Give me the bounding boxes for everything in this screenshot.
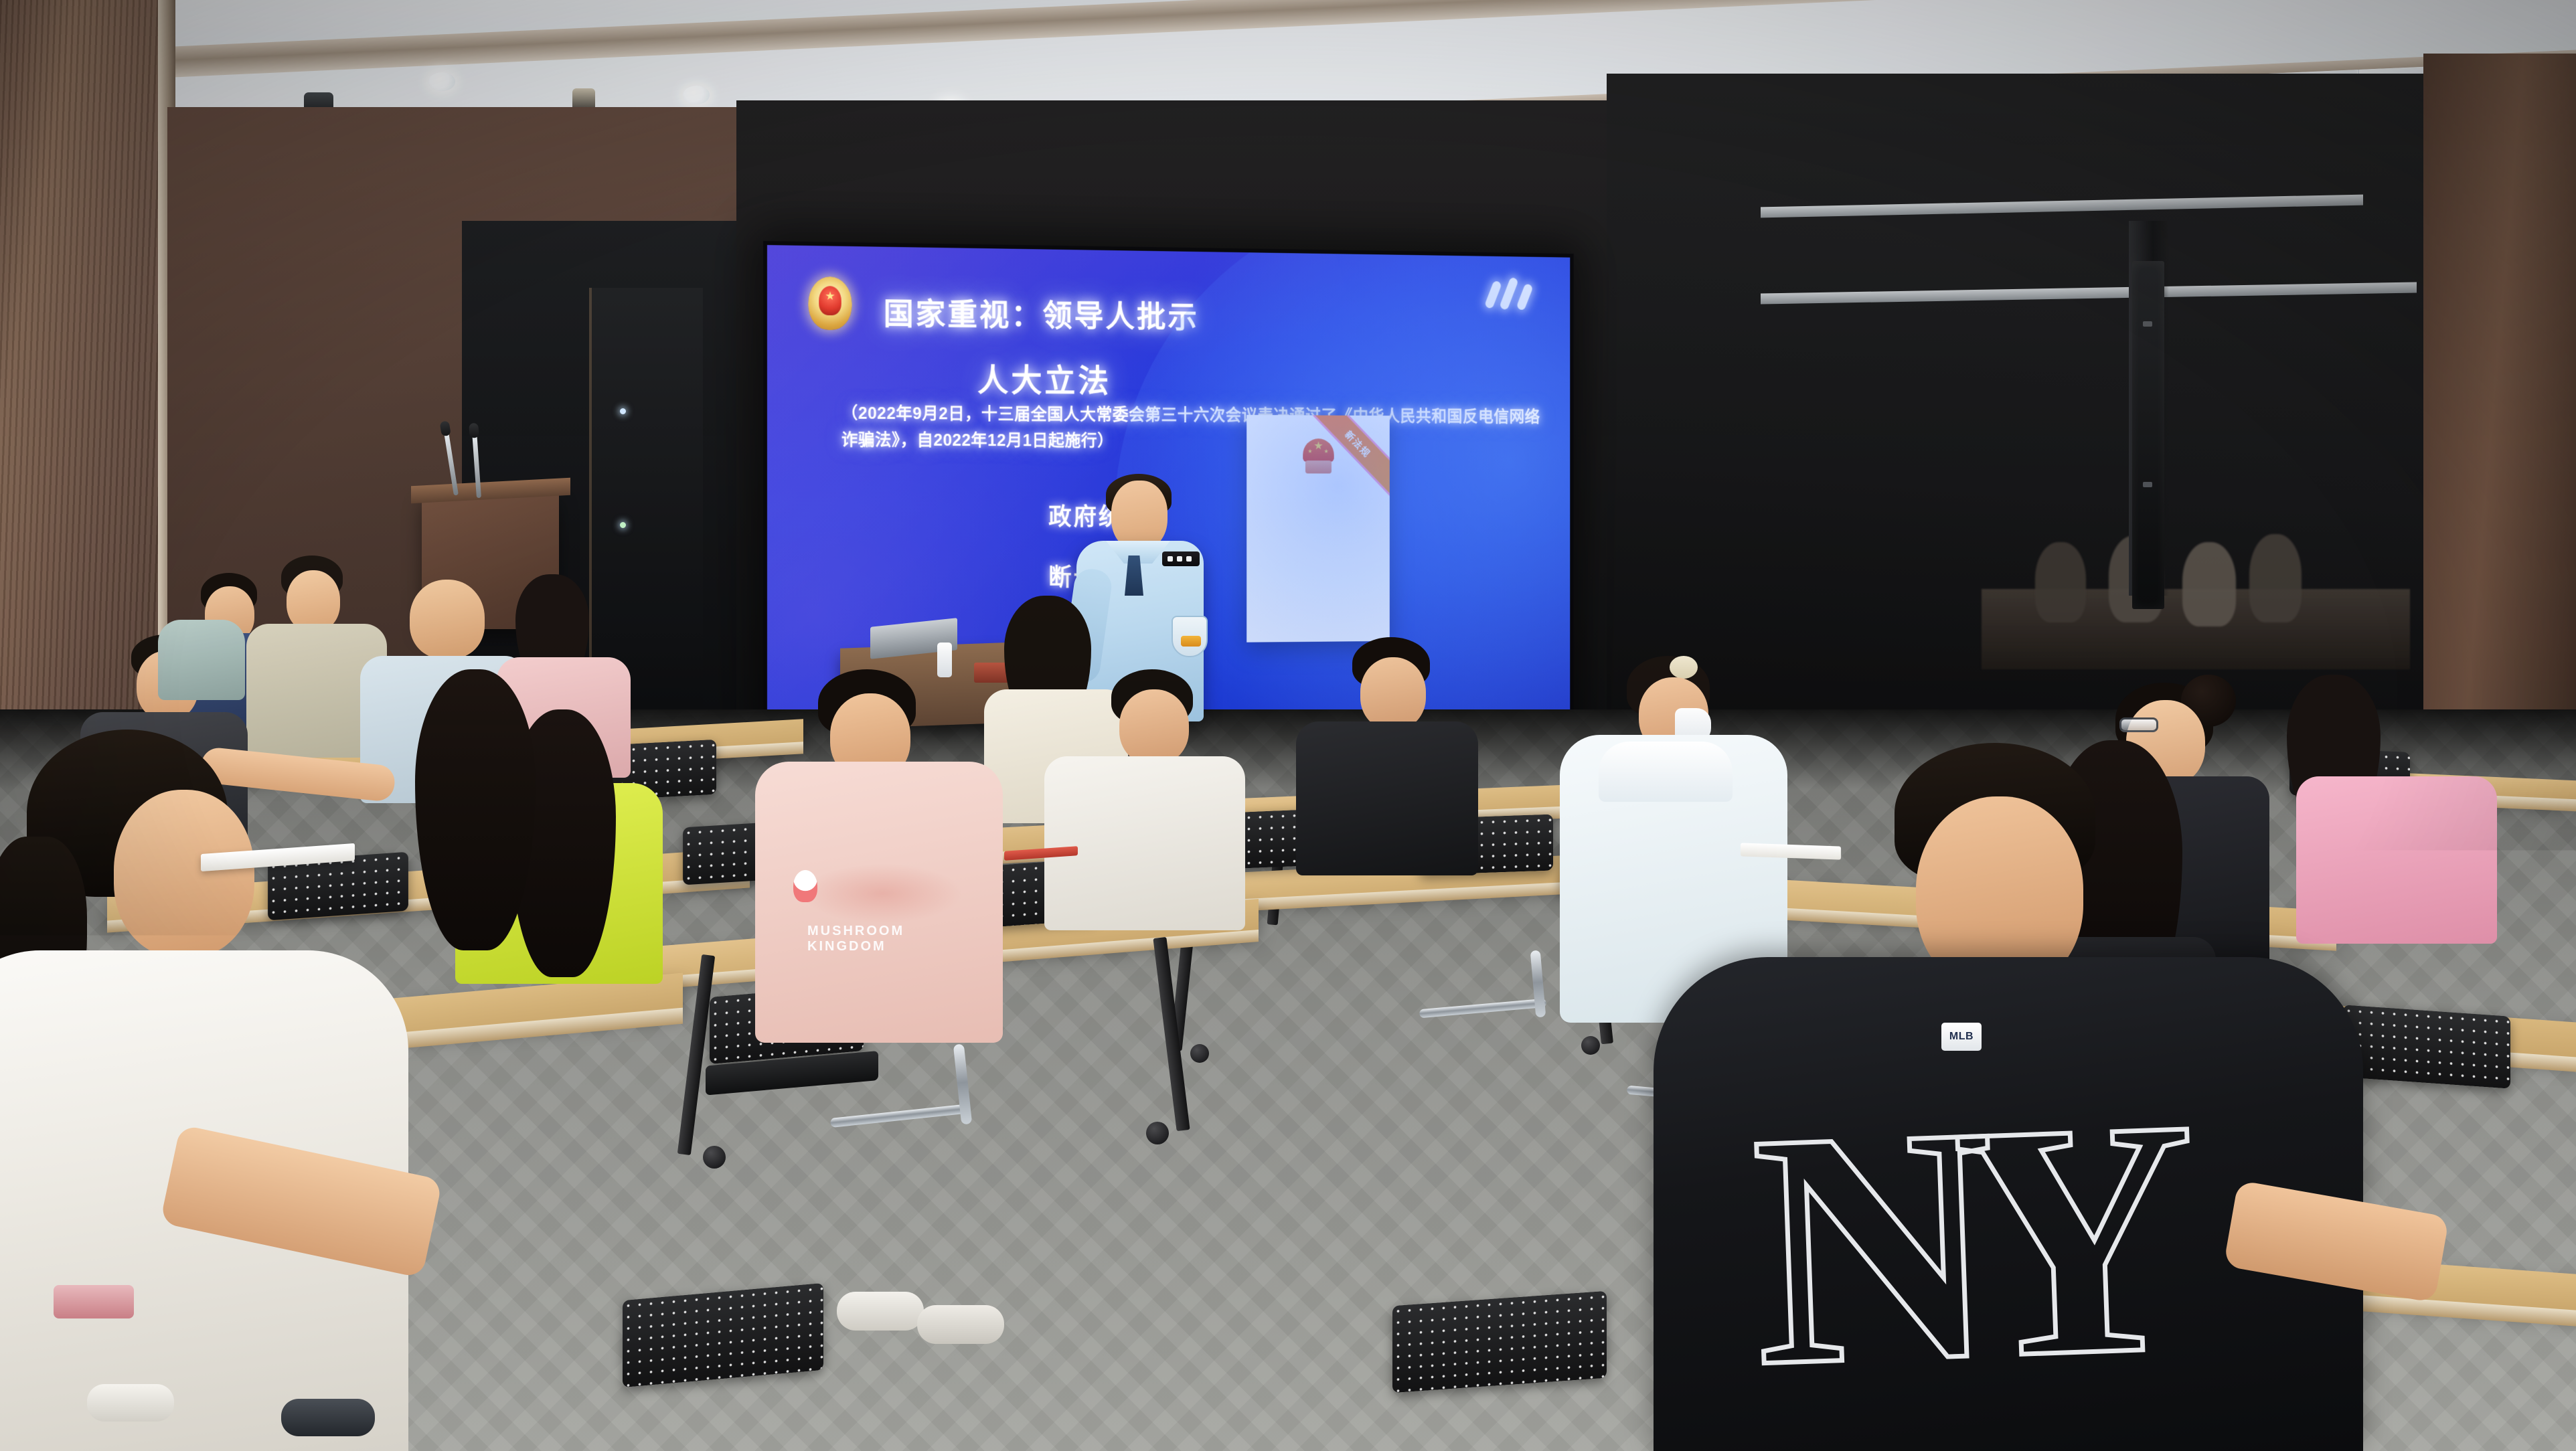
uniform-epaulette [1162,551,1200,566]
slide-subheading: 人大立法 [977,354,1111,401]
shoe [837,1292,924,1331]
shoe [917,1305,1004,1344]
slide-heading: 国家重视：领导人批示 [884,289,1368,338]
back-row-silhouette [2249,534,2302,622]
back-row-silhouette [2035,542,2086,622]
door-indicator-light [620,522,626,528]
back-row-silhouette [2182,542,2236,626]
chair[interactable] [1392,1291,1607,1393]
law-document-card: 新法规 [1246,415,1390,643]
hoodie-hood [1599,742,1733,802]
door-indicator-light [620,408,626,414]
ceiling-downlight [683,86,710,104]
table-caster [1146,1122,1169,1144]
document-ribbon: 新法规 [1309,415,1390,495]
slash-watermark-icon [1489,276,1541,315]
right-wall-trim [1761,282,2417,304]
conference-room-scene: 国家重视：领导人批示 人大立法 （2022年9月2日，十三届全国人大常委会第三十… [0,0,2576,1451]
ceiling-downlight [428,72,455,91]
mlb-logo-text: MLB [1949,1031,1974,1043]
slide-note: （2022年9月2日，十三届全国人大常委会第三十六次会议表决通过了《中华人民共和… [841,401,1548,456]
yankees-ny-logo-icon: NY [1748,1065,2109,1438]
toad-character-icon [793,870,817,902]
tshirt-print [802,863,963,924]
police-badge-emblem-icon [808,276,852,330]
shoe [87,1384,174,1422]
hair-scrunchie [1670,656,1698,679]
uniform-shoulder-patch [1172,616,1208,657]
mlb-logo-icon: MLB [1941,1023,1982,1051]
bag [54,1285,134,1318]
officer-head [1111,481,1168,550]
national-emblem-icon [1299,438,1338,476]
table-caster [703,1146,726,1169]
table-caster [1581,1036,1600,1055]
eyeglasses [2119,717,2158,732]
water-bottle [937,643,952,677]
chair[interactable] [623,1283,823,1387]
table-caster [1190,1044,1209,1063]
tshirt-print-text: MUSHROOM KINGDOM [807,924,904,954]
column-speaker [2132,261,2164,609]
right-wall-trim [1761,195,2363,218]
shoe [281,1399,375,1436]
chair[interactable] [2343,1005,2510,1088]
